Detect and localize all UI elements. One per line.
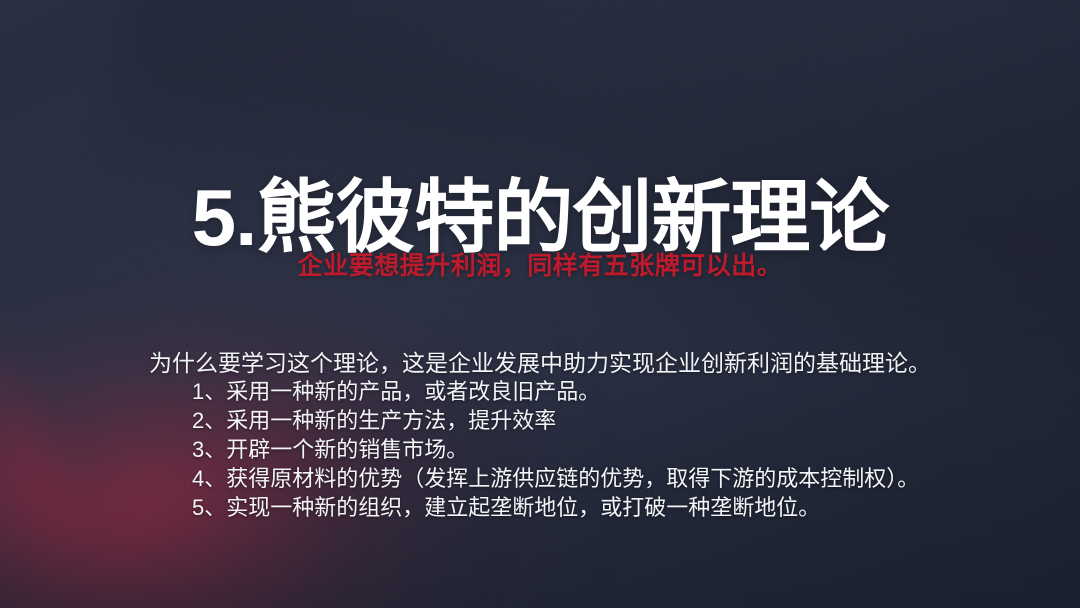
- list-item: 5、实现一种新的组织，建立起垄断地位，或打破一种垄断地位。: [192, 493, 919, 522]
- list-item: 3、开辟一个新的销售市场。: [192, 435, 919, 464]
- slide-content: 5.熊彼特的创新理论 企业要想提升利润，同样有五张牌可以出。 为什么要学习这个理…: [0, 0, 1080, 608]
- list-item: 2、采用一种新的生产方法，提升效率: [192, 406, 919, 435]
- list-item: 4、获得原材料的优势（发挥上游供应链的优势，取得下游的成本控制权）。: [192, 464, 919, 493]
- slide-title: 5.熊彼特的创新理论: [0, 178, 1080, 258]
- numbered-points-list: 1、采用一种新的产品，或者改良旧产品。 2、采用一种新的生产方法，提升效率 3、…: [192, 377, 919, 522]
- list-item: 1、采用一种新的产品，或者改良旧产品。: [192, 377, 919, 406]
- slide-subtitle: 企业要想提升利润，同样有五张牌可以出。: [0, 254, 1080, 279]
- presentation-slide: 5.熊彼特的创新理论 企业要想提升利润，同样有五张牌可以出。 为什么要学习这个理…: [0, 0, 1080, 608]
- slide-lead-paragraph: 为什么要学习这个理论，这是企业发展中助力实现企业创新利润的基础理论。: [0, 349, 1080, 378]
